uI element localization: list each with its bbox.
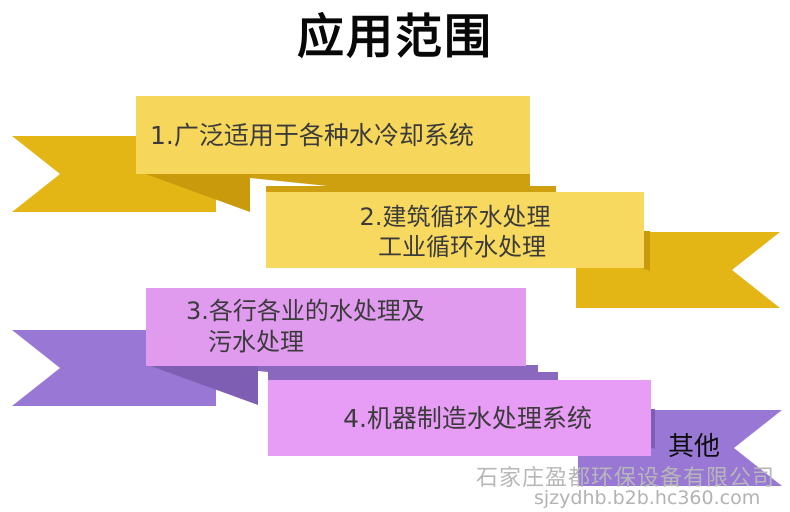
ribbon-1-panel[interactable]: 1.广泛适用于各种水冷却系统 <box>136 96 530 174</box>
page-title: 应用范围 <box>0 6 790 70</box>
ribbon-3-line-1: 3.各行各业的水处理及 <box>186 296 526 327</box>
ribbon-3-text: 3.各行各业的水处理及 污水处理 <box>146 288 526 366</box>
ribbon-2-line-2: 工业循环水处理 <box>378 232 546 262</box>
ribbon-2-panel[interactable]: 2.建筑循环水处理 工业循环水处理 <box>266 192 644 268</box>
ribbon-3-panel[interactable]: 3.各行各业的水处理及 污水处理 <box>146 288 526 366</box>
ribbon-1-line-1: 1.广泛适用于各种水冷却系统 <box>150 119 530 152</box>
watermark-url: sjzydhb.b2b.hc360.com <box>534 487 760 509</box>
ribbon-4-line-1: 4.机器制造水处理系统 <box>343 402 592 435</box>
ribbon-2-line-1: 2.建筑循环水处理 <box>360 202 551 232</box>
other-label: 其他 <box>668 432 720 462</box>
ribbon-1-text: 1.广泛适用于各种水冷却系统 <box>136 96 530 174</box>
slide-canvas: 应用范围 1.广泛适用于各种水冷却系统 2.建筑循环水处理 工业循环水处理 <box>0 0 790 512</box>
ribbon-4-panel[interactable]: 4.机器制造水处理系统 <box>268 380 651 456</box>
ribbon-2-text: 2.建筑循环水处理 工业循环水处理 <box>266 192 644 270</box>
ribbon-3-line-2: 污水处理 <box>208 327 526 358</box>
ribbon-4-text: 4.机器制造水处理系统 <box>268 380 651 456</box>
